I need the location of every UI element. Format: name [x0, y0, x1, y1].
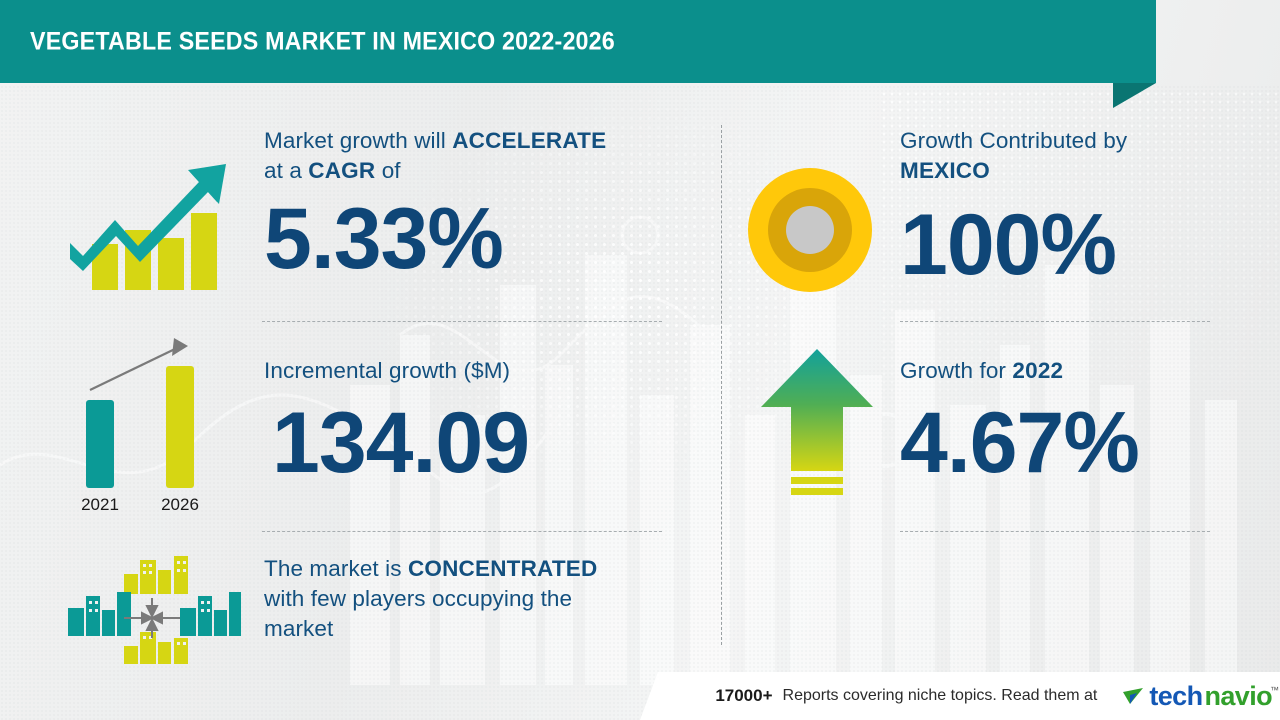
- stat-cagr-label: Market growth will ACCELERATE at a CAGR …: [264, 126, 674, 186]
- divider-right-2: [900, 531, 1210, 532]
- technavio-logo-navio: navio: [1204, 681, 1272, 712]
- stat-cagr: Market growth will ACCELERATE at a CAGR …: [264, 126, 674, 282]
- footer-tagline: Reports covering niche topics. Read them…: [783, 687, 1098, 705]
- cagr-label-bold: ACCELERATE: [452, 128, 606, 153]
- contribution-label-prefix: Growth Contributed by: [900, 128, 1127, 153]
- stat-incremental-label: Incremental growth ($M): [264, 356, 674, 386]
- yearly-growth-label-bold: 2022: [1012, 358, 1063, 383]
- contribution-label-bold: MEXICO: [900, 158, 990, 183]
- two-bar-comparison-icon: 2021 2026: [62, 332, 237, 517]
- stat-yearly-growth: Growth for 2022 4.67%: [900, 356, 1230, 486]
- concentration-label-bold: CONCENTRATED: [408, 556, 597, 581]
- stat-incremental-value: 134.09: [272, 400, 674, 486]
- footer: 17000+ Reports covering niche topics. Re…: [0, 672, 1280, 720]
- technavio-trademark: ™: [1270, 685, 1279, 695]
- stat-yearly-growth-value: 4.67%: [900, 400, 1230, 486]
- stat-market-concentration: The market is CONCENTRATED with few play…: [264, 554, 674, 644]
- stat-growth-contribution: Growth Contributed by MEXICO 100%: [900, 126, 1230, 288]
- concentration-label-line2: with few players occupying the: [264, 586, 572, 611]
- cagr-label-line2-suffix: of: [375, 158, 400, 183]
- divider-left-2: [262, 531, 662, 532]
- concentration-label-line3: market: [264, 616, 333, 641]
- technavio-logo[interactable]: technavio ™: [1121, 681, 1272, 712]
- stat-contribution-value: 100%: [900, 202, 1230, 288]
- divider-left-1: [262, 321, 662, 322]
- cagr-label-line2-prefix: at a: [264, 158, 308, 183]
- concentration-label-prefix: The market is: [264, 556, 408, 581]
- page-title: VEGETABLE SEEDS MARKET IN MEXICO 2022-20…: [30, 27, 659, 56]
- technavio-mark-icon: [1121, 683, 1147, 709]
- yearly-growth-label-prefix: Growth for: [900, 358, 1012, 383]
- stat-contribution-label: Growth Contributed by MEXICO: [900, 126, 1230, 186]
- market-concentration-buildings-icon: [62, 548, 242, 673]
- banner-fold-shape: [1113, 83, 1156, 108]
- growth-arrow-bar-chart-icon: [66, 158, 236, 293]
- donut-circle-icon: [745, 165, 875, 295]
- stat-cagr-value: 5.33%: [264, 196, 674, 282]
- bar-label-2021: 2021: [81, 495, 119, 514]
- stat-incremental-growth: Incremental growth ($M) 134.09: [264, 356, 674, 486]
- divider-right-1: [900, 321, 1210, 322]
- upward-arrow-icon: [757, 345, 877, 510]
- cagr-label-line2-bold: CAGR: [308, 158, 375, 183]
- footer-report-count: 17000+: [715, 686, 772, 706]
- technavio-logo-tech: tech: [1149, 681, 1202, 712]
- stat-concentration-label: The market is CONCENTRATED with few play…: [264, 554, 674, 644]
- bar-label-2026: 2026: [161, 495, 199, 514]
- cagr-label-prefix: Market growth will: [264, 128, 452, 153]
- column-divider: [721, 125, 722, 645]
- header-banner: VEGETABLE SEEDS MARKET IN MEXICO 2022-20…: [0, 0, 1156, 83]
- bar-2021: [86, 400, 114, 488]
- stat-yearly-growth-label: Growth for 2022: [900, 356, 1230, 386]
- bar-2026: [166, 366, 194, 488]
- infographic-canvas: VEGETABLE SEEDS MARKET IN MEXICO 2022-20…: [0, 0, 1280, 720]
